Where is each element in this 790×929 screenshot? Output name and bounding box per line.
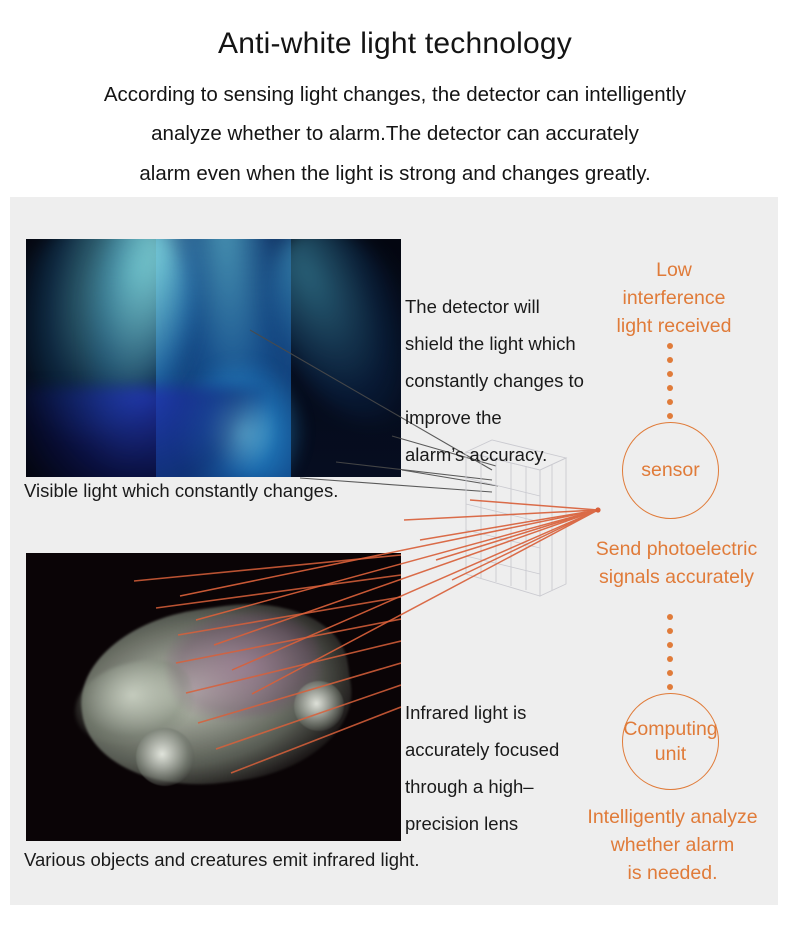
flow-connector-upper: [667, 343, 673, 419]
detector-note-line-4: improve the: [405, 399, 610, 436]
connector-dot: [667, 357, 673, 363]
send-signals-label: Send photoelectric signals accurately: [574, 535, 779, 591]
analyze-line-1: Intelligently analyze: [570, 803, 775, 831]
sensor-node-label: sensor: [641, 458, 700, 483]
infrared-car-caption: Various objects and creatures emit infra…: [24, 849, 420, 871]
connector-dot: [667, 371, 673, 377]
computing-unit-node: Computing unit: [622, 693, 719, 790]
visible-light-photo: [26, 239, 401, 477]
page-title: Anti-white light technology: [0, 0, 790, 62]
car-infrared-rays: [26, 553, 401, 841]
analyze-label: Intelligently analyze whether alarm is n…: [570, 803, 775, 887]
subtitle-line-2: analyze whether to alarm.The detector ca…: [0, 114, 790, 153]
connector-dot: [667, 343, 673, 349]
low-interference-line-3: light received: [594, 312, 754, 340]
low-interference-line-2: interference: [594, 284, 754, 312]
connector-dot: [667, 385, 673, 391]
page-subtitle: According to sensing light changes, the …: [0, 62, 790, 193]
detector-note: The detector will shield the light which…: [405, 288, 610, 473]
header: Anti-white light technology According to…: [0, 0, 790, 193]
connector-dot: [667, 684, 673, 690]
detector-note-line-5: alarm’s accuracy.: [405, 436, 610, 473]
flow-connector-lower: [667, 614, 673, 690]
subtitle-line-3: alarm even when the light is strong and …: [0, 154, 790, 193]
detector-note-line-1: The detector will: [405, 288, 610, 325]
detector-note-line-3: constantly changes to: [405, 362, 610, 399]
connector-dot: [667, 399, 673, 405]
connector-dot: [667, 413, 673, 419]
connector-dot: [667, 628, 673, 634]
send-signals-line-2: signals accurately: [574, 563, 779, 591]
infrared-note-line-3: through a high–: [405, 768, 600, 805]
computing-unit-node-label: Computing unit: [623, 717, 718, 767]
low-interference-line-1: Low: [594, 256, 754, 284]
analyze-line-2: whether alarm: [570, 831, 775, 859]
low-interference-label: Low interference light received: [594, 256, 754, 340]
connector-dot: [667, 642, 673, 648]
infrared-note-line-2: accurately focused: [405, 731, 600, 768]
subtitle-line-1: According to sensing light changes, the …: [0, 75, 790, 114]
connector-dot: [667, 614, 673, 620]
connector-dot: [667, 670, 673, 676]
detector-note-line-2: shield the light which: [405, 325, 610, 362]
visible-light-caption: Visible light which constantly changes.: [24, 480, 338, 502]
sensor-node: sensor: [622, 422, 719, 519]
connector-dot: [667, 656, 673, 662]
send-signals-line-1: Send photoelectric: [574, 535, 779, 563]
infrared-car-photo: [26, 553, 401, 841]
analyze-line-3: is needed.: [570, 859, 775, 887]
infrared-note-line-1: Infrared light is: [405, 694, 600, 731]
stage-floor-glow: [26, 387, 266, 477]
